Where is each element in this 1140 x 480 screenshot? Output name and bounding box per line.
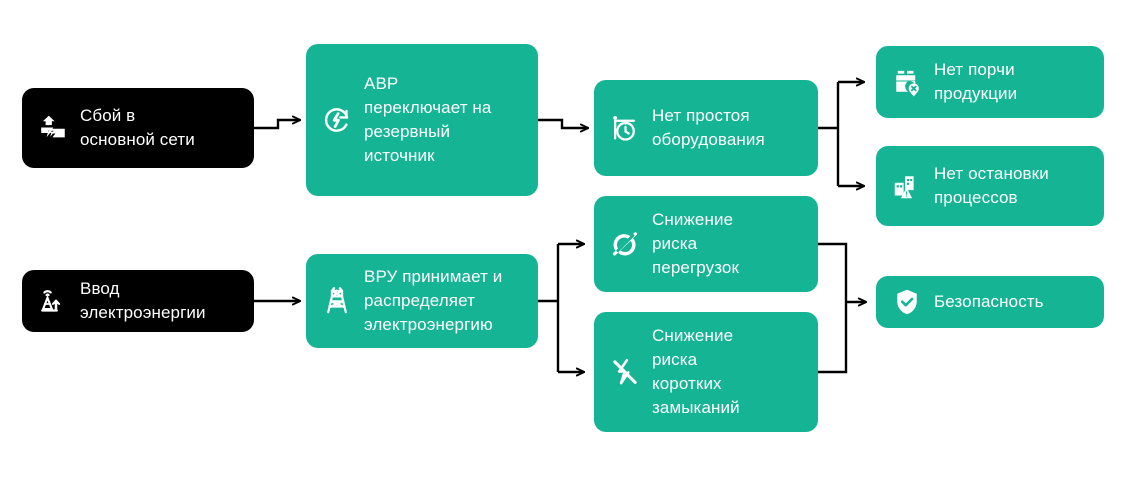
clock-downtime-icon <box>608 111 642 145</box>
short-circuit-crossed-icon <box>608 355 642 389</box>
node-label: Нет остановки процессов <box>934 162 1049 210</box>
package-damage-icon <box>890 65 924 99</box>
node-label: Безопасность <box>934 290 1044 314</box>
flowchart-canvas: Сбой в основной сети АВР переключает на … <box>0 0 1140 480</box>
node-safety[interactable]: Безопасность <box>876 276 1104 328</box>
node-label: ВРУ принимает и распределяет электроэнер… <box>364 265 502 337</box>
node-power-input[interactable]: Ввод электроэнергии <box>22 270 254 332</box>
node-no-process-stop[interactable]: Нет остановки процессов <box>876 146 1104 226</box>
transmission-tower-icon <box>320 284 354 318</box>
overload-risk-crossed-icon <box>608 227 642 261</box>
house-power-failure-icon <box>36 111 70 145</box>
node-label: Нет порчи продукции <box>934 58 1017 106</box>
node-no-product-damage[interactable]: Нет порчи продукции <box>876 46 1104 118</box>
node-label: Снижение риска перегрузок <box>652 208 739 280</box>
factory-warning-icon <box>890 169 924 203</box>
shield-check-icon <box>890 285 924 319</box>
edge-risk-merge-bottom <box>818 302 846 372</box>
node-label: Сбой в основной сети <box>80 104 195 152</box>
power-input-tower-icon <box>36 284 70 318</box>
node-label: Ввод электроэнергии <box>80 277 206 325</box>
node-lower-overload-risk[interactable]: Снижение риска перегрузок <box>594 196 818 292</box>
node-label: АВР переключает на резервный источник <box>364 72 491 168</box>
node-fault-main-grid[interactable]: Сбой в основной сети <box>22 88 254 168</box>
node-no-equipment-downtime[interactable]: Нет простоя оборудования <box>594 80 818 176</box>
node-vru-distributes-power[interactable]: ВРУ принимает и распределяет электроэнер… <box>306 254 538 348</box>
node-lower-short-circuit-risk[interactable]: Снижение риска коротких замыканий <box>594 312 818 432</box>
edge-risk-merge-top <box>818 244 846 302</box>
edge-fault-to-abr <box>254 120 300 128</box>
node-label: Снижение риска коротких замыканий <box>652 324 740 420</box>
node-label: Нет простоя оборудования <box>652 104 765 152</box>
edge-abr-to-no-downtime <box>538 120 588 128</box>
node-abr-switches-backup[interactable]: АВР переключает на резервный источник <box>306 44 538 196</box>
power-switch-refresh-icon <box>320 103 354 137</box>
